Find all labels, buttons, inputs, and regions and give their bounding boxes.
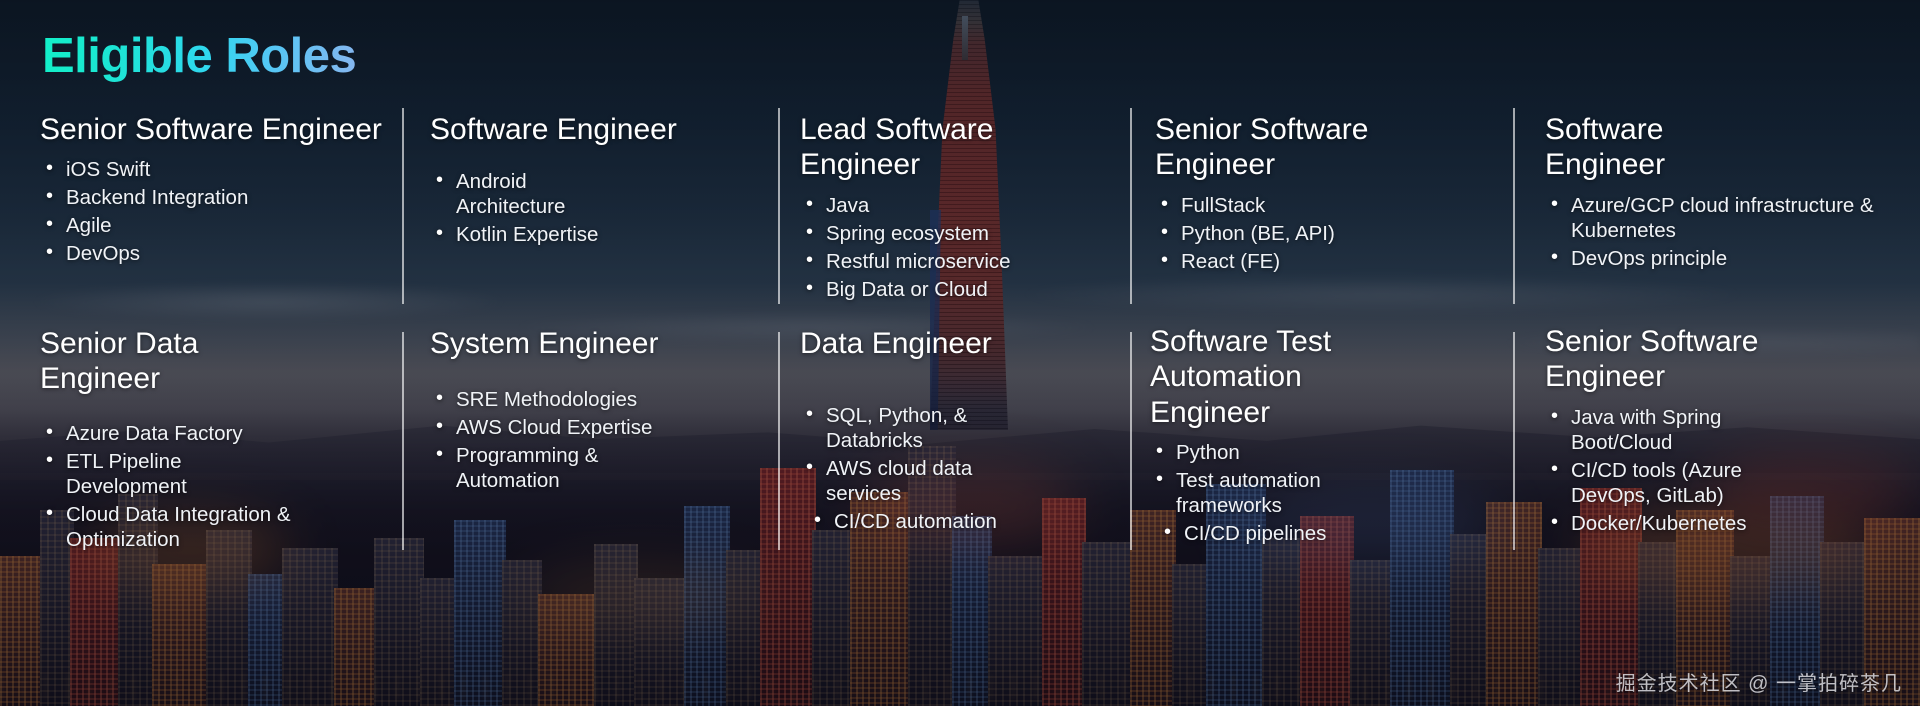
- role-skill-item: Azure Data Factory: [40, 421, 390, 446]
- column-divider: [402, 108, 404, 304]
- role-title: Software Engineer: [430, 112, 760, 147]
- role-skill-item: SRE Methodologies: [430, 387, 760, 412]
- role-skill-list: SQL, Python, & Databricks AWS cloud data…: [800, 403, 1120, 534]
- role-skill-item: DevOps principle: [1545, 246, 1905, 271]
- column-divider: [1513, 332, 1515, 550]
- role-card-software-engineer-android: Software Engineer Android Architecture K…: [430, 112, 760, 250]
- page-title: Eligible Roles: [42, 28, 356, 84]
- role-skill-item: Agile: [40, 213, 390, 238]
- role-card-software-test-automation-engineer: Software Test Automation Engineer Python…: [1150, 324, 1490, 549]
- role-card-senior-software-engineer-ios: Senior Software Engineer iOS Swift Backe…: [40, 112, 390, 269]
- role-skill-list: Azure/GCP cloud infrastructure & Kuberne…: [1545, 193, 1905, 271]
- role-skill-item: Java with Spring Boot/Cloud: [1545, 405, 1745, 455]
- role-title: Senior Software Engineer: [1155, 112, 1495, 183]
- role-skill-item: Kotlin Expertise: [430, 222, 760, 247]
- role-card-senior-software-engineer-java: Senior Software Engineer Java with Sprin…: [1545, 324, 1915, 539]
- role-skill-item: SQL, Python, & Databricks: [800, 403, 980, 453]
- role-title: System Engineer: [430, 326, 760, 361]
- column-divider: [402, 332, 404, 550]
- role-skill-item: Restful microservice: [800, 249, 1120, 274]
- role-skill-item: CI/CD tools (Azure DevOps, GitLab): [1545, 458, 1765, 508]
- role-skill-item: Cloud Data Integration & Optimization: [40, 502, 390, 552]
- column-divider: [1513, 108, 1515, 304]
- role-title: Data Engineer: [800, 326, 1120, 361]
- role-skill-list: Python Test automation frameworks CI/CD …: [1150, 440, 1490, 546]
- role-skill-item: Test automation frameworks: [1150, 468, 1350, 518]
- role-skill-list: SRE Methodologies AWS Cloud Expertise Pr…: [430, 387, 760, 493]
- column-divider: [1130, 332, 1132, 550]
- role-card-senior-software-engineer-fullstack: Senior Software Engineer FullStack Pytho…: [1155, 112, 1495, 277]
- role-skill-list: Android Architecture Kotlin Expertise: [430, 169, 760, 247]
- role-skill-item: Docker/Kubernetes: [1545, 511, 1915, 536]
- role-card-lead-software-engineer: Lead Software Engineer Java Spring ecosy…: [800, 112, 1120, 305]
- column-divider: [778, 108, 780, 304]
- role-skill-item: Backend Integration: [40, 185, 390, 210]
- role-skill-item: Azure/GCP cloud infrastructure & Kuberne…: [1545, 193, 1905, 243]
- role-skill-item: ETL Pipeline Development: [40, 449, 230, 499]
- role-skill-item: AWS cloud data services: [800, 456, 980, 506]
- role-title: Lead Software Engineer: [800, 112, 1120, 183]
- role-skill-item: React (FE): [1155, 249, 1495, 274]
- role-skill-item: Java: [800, 193, 1120, 218]
- watermark: 掘金技术社区 @ 一掌拍碎茶几: [1616, 667, 1902, 696]
- slide-root: Eligible Roles Senior Software Engineer …: [0, 0, 1920, 706]
- role-skill-item: Spring ecosystem: [800, 221, 1120, 246]
- role-skill-item: CI/CD automation: [800, 509, 1120, 534]
- role-title: Senior Data Engineer: [40, 326, 270, 397]
- role-skill-list: FullStack Python (BE, API) React (FE): [1155, 193, 1495, 274]
- role-skill-item: Programming & Automation: [430, 443, 610, 493]
- role-skill-item: CI/CD pipelines: [1150, 521, 1490, 546]
- role-skill-list: Java with Spring Boot/Cloud CI/CD tools …: [1545, 405, 1915, 536]
- roles-grid: Senior Software Engineer iOS Swift Backe…: [0, 104, 1920, 664]
- role-skill-item: Python (BE, API): [1155, 221, 1495, 246]
- slide-content: Eligible Roles Senior Software Engineer …: [0, 0, 1920, 706]
- role-skill-item: Big Data or Cloud: [800, 277, 1120, 302]
- role-skill-item: FullStack: [1155, 193, 1495, 218]
- role-skill-item: Python: [1150, 440, 1490, 465]
- role-title: Senior Software Engineer: [40, 112, 390, 147]
- role-card-senior-data-engineer: Senior Data Engineer Azure Data Factory …: [40, 326, 390, 555]
- role-title: Software Engineer: [1545, 112, 1735, 183]
- role-skill-item: AWS Cloud Expertise: [430, 415, 760, 440]
- role-skill-item: DevOps: [40, 241, 390, 266]
- role-skill-list: iOS Swift Backend Integration Agile DevO…: [40, 157, 390, 266]
- role-skill-list: Java Spring ecosystem Restful microservi…: [800, 193, 1120, 302]
- column-divider: [1130, 108, 1132, 304]
- role-skill-list: Azure Data Factory ETL Pipeline Developm…: [40, 421, 390, 552]
- role-card-data-engineer: Data Engineer SQL, Python, & Databricks …: [800, 326, 1120, 537]
- column-divider: [778, 332, 780, 550]
- role-title: Senior Software Engineer: [1545, 324, 1815, 395]
- role-card-system-engineer: System Engineer SRE Methodologies AWS Cl…: [430, 326, 760, 496]
- role-skill-item: Android Architecture: [430, 169, 550, 219]
- role-skill-item: iOS Swift: [40, 157, 390, 182]
- role-title: Software Test Automation Engineer: [1150, 324, 1360, 430]
- role-card-software-engineer-cloud: Software Engineer Azure/GCP cloud infras…: [1545, 112, 1905, 274]
